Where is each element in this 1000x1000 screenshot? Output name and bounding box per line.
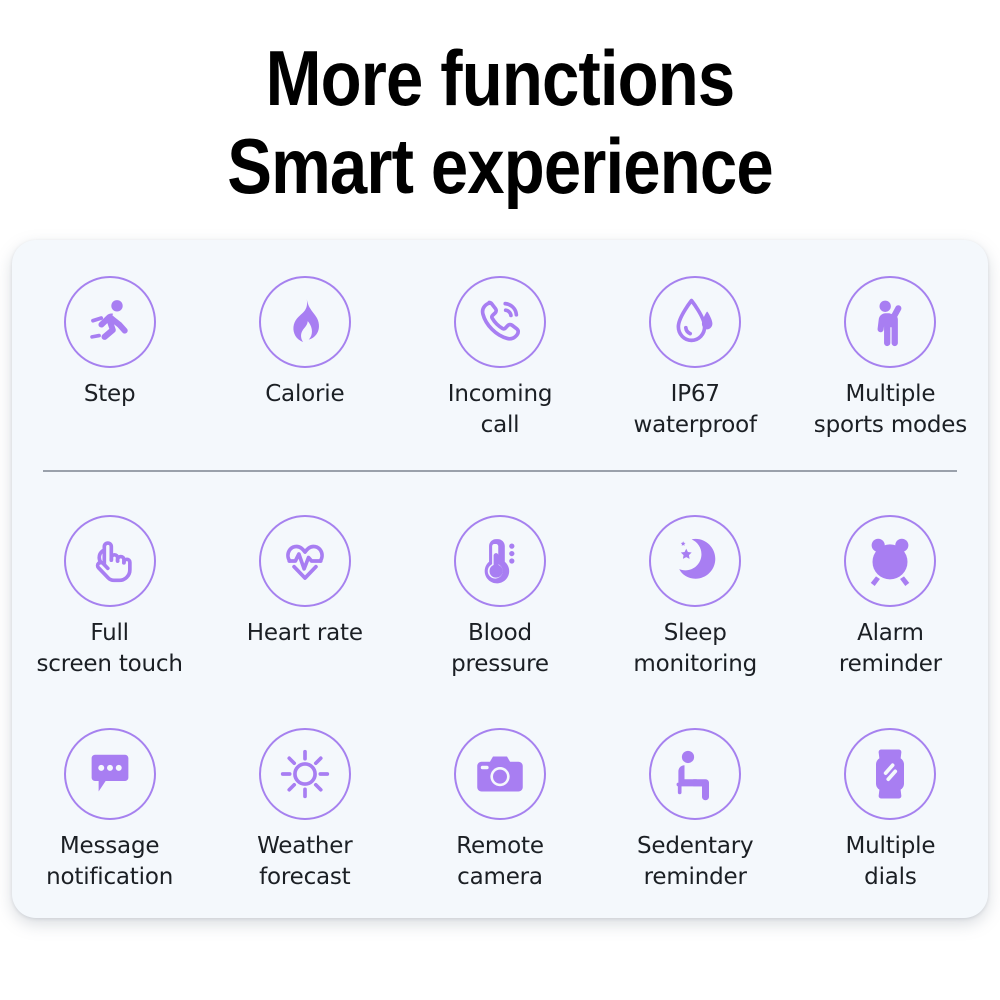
heart-pulse-icon (259, 515, 351, 607)
incoming-call-icon (454, 276, 546, 368)
feature-label: Message notification (46, 831, 173, 893)
features-grid: Step Calorie (12, 240, 988, 918)
feature-cell-message-notification[interactable]: Message notification (12, 728, 207, 893)
feature-cell-step[interactable]: Step (12, 276, 207, 410)
features-row-2: Full screen touch Heart rate (12, 495, 988, 705)
features-card: Step Calorie (12, 240, 988, 918)
feature-cell-sports-modes[interactable]: Multiple sports modes (793, 276, 988, 441)
features-row-3: Message notification (12, 706, 988, 918)
page-title-line-2: Smart experience (70, 122, 930, 210)
feature-label: Multiple sports modes (814, 379, 967, 441)
feature-label: Remote camera (456, 831, 544, 893)
feature-label: Incoming call (448, 379, 552, 441)
feature-label: IP67 waterproof (634, 379, 757, 441)
flame-icon (259, 276, 351, 368)
feature-cell-heart-rate[interactable]: Heart rate (207, 515, 402, 649)
feature-label: Multiple dials (846, 831, 936, 893)
alarm-clock-icon (844, 515, 936, 607)
feature-cell-weather-forecast[interactable]: Weather forecast (207, 728, 402, 893)
feature-cell-full-screen-touch[interactable]: Full screen touch (12, 515, 207, 680)
feature-cell-alarm-reminder[interactable]: Alarm reminder (793, 515, 988, 680)
sun-icon (259, 728, 351, 820)
feature-cell-sedentary-reminder[interactable]: Sedentary reminder (598, 728, 793, 893)
feature-label: Full screen touch (36, 618, 182, 680)
feature-cell-waterproof[interactable]: IP67 waterproof (598, 276, 793, 441)
stretching-person-icon (844, 276, 936, 368)
feature-label: Alarm reminder (839, 618, 942, 680)
sitting-person-icon (649, 728, 741, 820)
feature-cell-sleep-monitoring[interactable]: Sleep monitoring (598, 515, 793, 680)
camera-icon (454, 728, 546, 820)
feature-label: Calorie (265, 379, 344, 410)
thermometer-icon (454, 515, 546, 607)
page-title: More functions Smart experience (70, 34, 930, 210)
feature-cell-incoming-call[interactable]: Incoming call (402, 276, 597, 441)
feature-cell-remote-camera[interactable]: Remote camera (402, 728, 597, 893)
touch-hand-icon (64, 515, 156, 607)
smartwatch-icon (844, 728, 936, 820)
row-divider-1 (43, 470, 957, 472)
page-title-line-1: More functions (70, 34, 930, 122)
water-drop-icon (649, 276, 741, 368)
feature-overview-page: More functions Smart experience Step (0, 0, 1000, 1000)
feature-label: Step (84, 379, 136, 410)
message-bubble-icon (64, 728, 156, 820)
feature-label: Sedentary reminder (637, 831, 753, 893)
features-row-1: Step Calorie (12, 240, 988, 495)
feature-cell-calorie[interactable]: Calorie (207, 276, 402, 410)
feature-label: Blood pressure (451, 618, 549, 680)
feature-label: Weather forecast (257, 831, 352, 893)
feature-cell-multiple-dials[interactable]: Multiple dials (793, 728, 988, 893)
feature-label: Heart rate (247, 618, 363, 649)
running-person-icon (64, 276, 156, 368)
moon-stars-icon (649, 515, 741, 607)
feature-label: Sleep monitoring (633, 618, 757, 680)
feature-cell-blood-pressure[interactable]: Blood pressure (402, 515, 597, 680)
